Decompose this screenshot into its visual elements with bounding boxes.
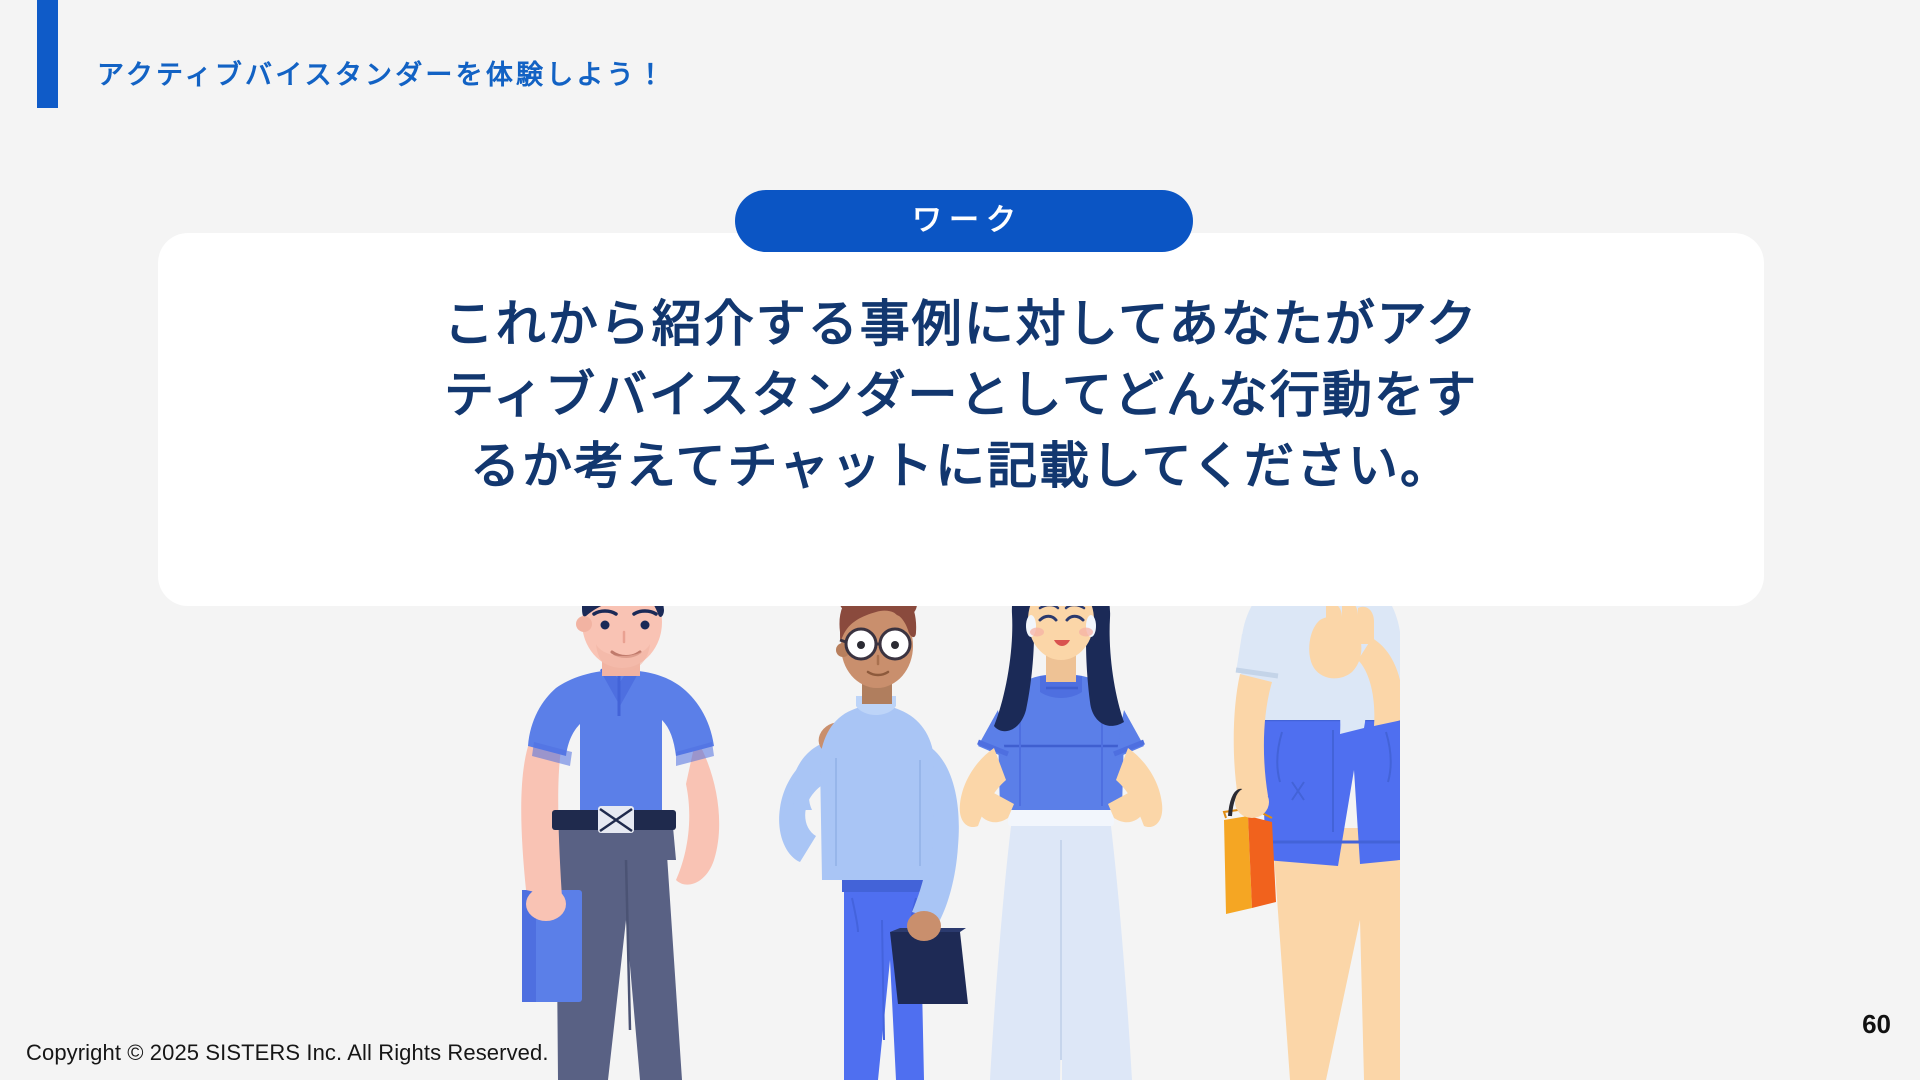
figure-man-blue-polo [521, 560, 719, 1080]
footer-copyright: Copyright © 2025 SISTERS Inc. All Rights… [26, 1040, 549, 1066]
work-instruction-line-1: これから紹介する事例に対してあなたがアク [218, 289, 1704, 360]
header-accent-bar [37, 0, 58, 108]
work-instruction-text: これから紹介する事例に対してあなたがアク ティブバイスタンダーとしてどんな行動を… [158, 289, 1764, 502]
figure-woman-hands-on-hips [960, 562, 1163, 1080]
slide-header: アクティブバイスタンダーを体験しよう！ [0, 0, 1920, 140]
work-badge: ワーク [735, 190, 1193, 252]
work-badge-label: ワーク [905, 206, 1023, 236]
page-number: 60 [1862, 1011, 1891, 1037]
work-instruction-line-3: るか考えてチャットに記載してください。 [218, 431, 1704, 502]
work-instruction-card: これから紹介する事例に対してあなたがアク ティブバイスタンダーとしてどんな行動を… [158, 233, 1764, 606]
page-title: アクティブバイスタンダーを体験しよう！ [97, 62, 667, 89]
slide-root: アクティブバイスタンダーを体験しよう！ ワーク これから紹介する事例に対してあな… [0, 0, 1920, 1080]
work-instruction-line-2: ティブバイスタンダーとしてどんな行動をす [218, 360, 1704, 431]
four-standing-people-illustration [500, 560, 1400, 1080]
figure-man-waving [1224, 560, 1400, 1080]
figure-person-glasses [779, 575, 968, 1080]
